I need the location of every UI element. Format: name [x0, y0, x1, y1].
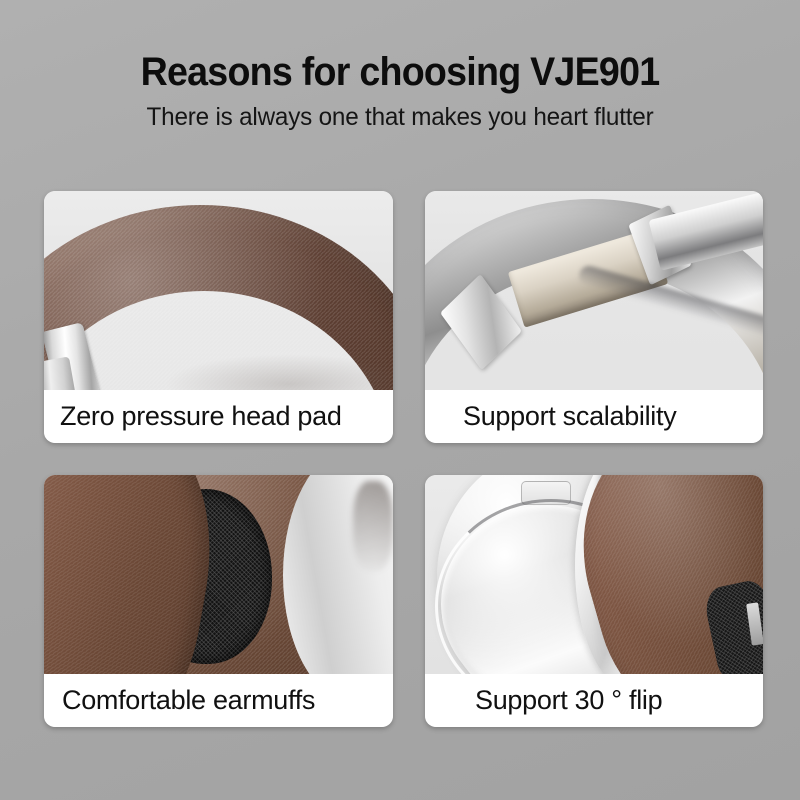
earcup-right-shadow — [353, 481, 393, 571]
feature-label-band: Comfortable earmuffs — [44, 674, 393, 727]
feature-label-support-30-flip: Support 30 ° flip — [425, 674, 763, 727]
feature-label-comfortable-earmuffs: Comfortable earmuffs — [44, 674, 393, 727]
page-subtitle: There is always one that makes you heart… — [12, 100, 788, 134]
page-title: Reasons for choosing VJE901 — [24, 48, 776, 96]
feature-image-chrome-slider — [425, 191, 763, 390]
feature-label-zero-pressure-head-pad: Zero pressure head pad — [44, 390, 393, 443]
feature-card-support-30-flip[interactable]: Support 30 ° flip — [425, 475, 763, 727]
feature-card-comfortable-earmuffs[interactable]: Comfortable earmuffs — [44, 475, 393, 727]
feature-poster: Reasons for choosing VJE901 There is alw… — [0, 0, 800, 800]
feature-card-support-scalability[interactable]: Support scalability — [425, 191, 763, 443]
feature-image-earmuff — [44, 475, 393, 674]
feature-card-zero-pressure-head-pad[interactable]: Zero pressure head pad — [44, 191, 393, 443]
feature-label-band: Zero pressure head pad — [44, 390, 393, 443]
feature-grid: Zero pressure head pad Support scalabili… — [44, 191, 763, 726]
feature-label-band: Support 30 ° flip — [425, 674, 763, 727]
feature-image-headband-arch — [44, 191, 393, 390]
feature-label-support-scalability: Support scalability — [425, 390, 763, 443]
feature-image-silver-cup-flip — [425, 475, 763, 674]
poster-header: Reasons for choosing VJE901 There is alw… — [0, 48, 800, 134]
feature-label-band: Support scalability — [425, 390, 763, 443]
